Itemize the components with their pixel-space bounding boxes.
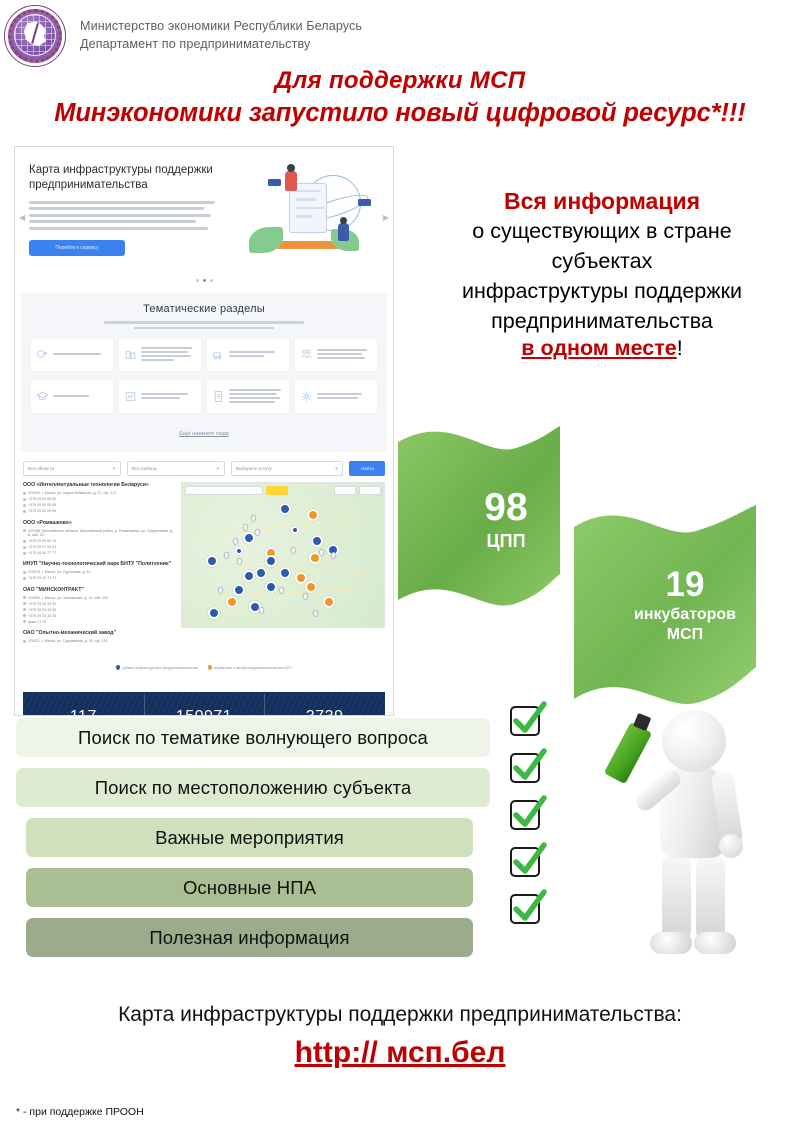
check-icon xyxy=(509,746,549,786)
list-item[interactable]: ООО «Ромашково» 213788, Могилевская обла… xyxy=(23,520,175,556)
organization-phone: +375 29 62 00 00 xyxy=(28,497,56,501)
section-card[interactable] xyxy=(31,380,113,413)
organization-meta: 220021, г. Минск, ул. Грушевская, д. 30,… xyxy=(23,639,175,643)
organization-address: 220081, г. Минск, ул. Заславская, д. 10,… xyxy=(28,596,108,600)
organization-phone: +375 29 33 33 33 xyxy=(28,614,56,618)
phone-icon xyxy=(23,510,26,513)
organization-list[interactable]: ООО «Интеллектуальные технологии Беларус… xyxy=(23,482,175,649)
section-card[interactable] xyxy=(31,338,113,371)
page-title: Для поддержки МСП Минэкономики запустило… xyxy=(0,66,800,130)
check-icon xyxy=(509,699,549,739)
chart-icon xyxy=(124,390,137,403)
header-text: Министерство экономики Республики Белару… xyxy=(80,17,362,53)
mockup-hero: ◀ ▶ Карта инфраструктуры поддержки предп… xyxy=(15,147,393,265)
section-card[interactable] xyxy=(207,338,289,371)
feature-bar-events[interactable]: Важные мероприятия xyxy=(26,818,473,857)
green-marker-icon xyxy=(604,722,652,784)
list-item[interactable]: ОАО "МИНСКОНТРАКТ" 220081, г. Минск, ул.… xyxy=(23,587,175,624)
organization-phone: +375 33 33 33 36 xyxy=(28,608,56,612)
city-select[interactable]: Все районы ▼ xyxy=(127,461,225,476)
organization-phone: +375 44 54 77 77 xyxy=(28,551,56,555)
info-exclaim: ! xyxy=(677,336,683,360)
map-toolbar[interactable] xyxy=(185,486,381,495)
organization-meta: 220036, г. Минск, ул. Карла Либкнехта, д… xyxy=(23,491,175,513)
sections-heading: Тематические разделы xyxy=(31,303,377,315)
organization-meta: 213788, Могилевская область, Могилевский… xyxy=(23,529,175,556)
carousel-dots[interactable] xyxy=(15,265,393,293)
ministry-emblem-icon xyxy=(4,5,66,67)
mockup-hero-cta-label: Перейти к сервису xyxy=(55,245,98,251)
region-select[interactable]: Все области ▼ xyxy=(23,461,121,476)
stat-item: 150971 Оказано услуг за 2022 год xyxy=(144,708,265,716)
sections-more-link[interactable]: Ещё нажмите сюда xyxy=(31,422,377,440)
feature-bar-search-by-location[interactable]: Поиск по местоположению субъекта xyxy=(16,768,490,807)
list-item[interactable]: ИНУП "Научно-технологический парк БНТУ "… xyxy=(23,561,175,580)
checkbox-checked[interactable] xyxy=(510,753,540,783)
building-icon xyxy=(124,348,137,361)
footer-caption: Карта инфраструктуры поддержки предприни… xyxy=(0,1000,800,1030)
phone-icon xyxy=(23,546,26,549)
mockup-hero-illustration xyxy=(219,163,379,259)
info-line-3: инфраструктуры поддержки xyxy=(404,276,800,306)
feature-bar-legal-acts[interactable]: Основные НПА xyxy=(26,868,473,907)
education-icon xyxy=(36,390,49,403)
feature-bars: Поиск по тематике волнующего вопроса Пои… xyxy=(16,718,490,968)
info-emphasis: в одном месте xyxy=(521,336,676,360)
stat-value: 3739 xyxy=(264,708,385,716)
fax-icon xyxy=(23,620,26,623)
phone-icon xyxy=(23,577,26,580)
info-line-4: предпринимательства xyxy=(404,306,800,336)
map-layers-button[interactable] xyxy=(359,486,381,495)
list-item[interactable]: ОАО "Опытно-механический завод" 220021, … xyxy=(23,630,175,643)
location-icon xyxy=(23,492,26,495)
checkbox-checked[interactable] xyxy=(510,706,540,736)
chevron-down-icon: ▼ xyxy=(112,466,116,471)
check-icon xyxy=(509,887,549,927)
mockup-stats-bar: 117 Субъекты инфраструктуры 150971 Оказа… xyxy=(23,692,385,716)
organization-phone: +375 25 65 00 10 xyxy=(28,539,56,543)
map-legend: субъект инфраструктуры предпринимательст… xyxy=(15,662,393,674)
header-line-1: Министерство экономики Республики Белару… xyxy=(80,17,362,35)
legend-marker-blue-icon xyxy=(116,665,120,670)
stat-value: 117 xyxy=(23,708,144,716)
location-icon xyxy=(23,529,26,532)
section-card[interactable] xyxy=(119,380,201,413)
organization-meta: 220081, г. Минск, ул. Заславская, д. 10,… xyxy=(23,596,175,624)
stat-value: 150971 xyxy=(144,708,265,716)
organization-address: 220013, г. Минск, ул. Сурганова, д. 41 xyxy=(28,570,91,574)
page-header: Министерство экономики Республики Белару… xyxy=(0,0,800,70)
phone-icon xyxy=(23,498,26,501)
section-card[interactable] xyxy=(295,338,377,371)
stat-banner-label: 19 инкубаторов МСП xyxy=(570,565,800,645)
legend-label: инкубаторы и центры предпринимательства … xyxy=(214,666,292,670)
checkbox-checked[interactable] xyxy=(510,800,540,830)
organization-address: 213788, Могилевская область, Могилевский… xyxy=(28,529,175,538)
checkbox-checked[interactable] xyxy=(510,894,540,924)
stat-item: 3739 Проведено мероприятий за 2022 год xyxy=(264,708,385,716)
interactive-map[interactable] xyxy=(181,482,385,628)
stat-banner-caption-2: МСП xyxy=(570,625,800,645)
location-icon xyxy=(23,640,26,643)
section-cards-row-1 xyxy=(31,338,377,371)
info-block: Вся информация о существующих в стране с… xyxy=(404,186,800,361)
mockup-hero-paragraph xyxy=(29,201,219,230)
organization-address: 220021, г. Минск, ул. Грушевская, д. 30,… xyxy=(28,639,108,643)
checkbox-list xyxy=(510,706,540,941)
organization-phone: +375 29 62 00 06 xyxy=(28,503,56,507)
legend-marker-orange-icon xyxy=(208,665,212,670)
map-find-button[interactable] xyxy=(266,486,288,495)
legend-label: субъект инфраструктуры предпринимательст… xyxy=(122,666,197,670)
stat-banner-caption-1: инкубаторов xyxy=(570,605,800,625)
sections-more-label: Ещё нажмите сюда xyxy=(179,431,228,437)
website-screenshot-mockup: ◀ ▶ Карта инфраструктуры поддержки предп… xyxy=(14,146,394,716)
phone-icon xyxy=(23,614,26,617)
section-card[interactable] xyxy=(295,380,377,413)
list-item[interactable]: ООО «Интеллектуальные технологии Беларус… xyxy=(23,482,175,513)
mockup-hero-cta-button[interactable]: Перейти к сервису xyxy=(29,240,125,256)
location-icon xyxy=(23,596,26,599)
map-search-input[interactable] xyxy=(185,486,263,495)
check-icon xyxy=(509,793,549,833)
organization-phone: +375 29 92 74 71 xyxy=(28,576,56,580)
region-select-value: Все области xyxy=(28,466,54,471)
chevron-down-icon: ▼ xyxy=(216,466,220,471)
phone-icon xyxy=(23,552,26,555)
section-card[interactable] xyxy=(207,380,289,413)
title-line-2: Минэкономики запустило новый цифровой ре… xyxy=(0,96,800,130)
mockup-results: ООО «Интеллектуальные технологии Беларус… xyxy=(15,482,393,649)
carousel-next-icon[interactable]: ▶ xyxy=(383,213,389,222)
organization-phone: +375 29 62 00 09 xyxy=(28,509,56,513)
location-icon xyxy=(23,571,26,574)
footnote: * - при поддержке ПРООН xyxy=(16,1106,144,1118)
infographic-poster: Министерство экономики Республики Белару… xyxy=(0,0,800,1132)
info-highlight: Вся информация xyxy=(404,186,800,216)
machine-icon xyxy=(212,348,225,361)
person-figure-icon xyxy=(588,706,778,964)
search-button[interactable]: Найти xyxy=(349,461,385,476)
phone-icon xyxy=(23,602,26,605)
city-select-value: Все районы xyxy=(132,466,157,471)
title-line-1: Для поддержки МСП xyxy=(0,66,800,96)
map-traffic-button[interactable] xyxy=(334,486,356,495)
search-button-label: Найти xyxy=(361,466,374,471)
feature-bar-search-by-topic[interactable]: Поиск по тематике волнующего вопроса xyxy=(16,718,490,757)
organization-meta: 220013, г. Минск, ул. Сурганова, д. 41 +… xyxy=(23,570,175,580)
phone-icon xyxy=(23,608,26,611)
feature-bar-useful-info[interactable]: Полезная информация xyxy=(26,918,473,957)
check-icon xyxy=(509,840,549,880)
organization-name: ООО «Ромашково» xyxy=(23,520,175,527)
sections-subtext xyxy=(104,321,304,329)
organization-name: ОАО "МИНСКОНТРАКТ" xyxy=(23,587,175,594)
info-line-2: субъектах xyxy=(404,246,800,276)
coin-icon xyxy=(36,348,49,361)
service-select-value: Выберите услугу xyxy=(236,466,272,471)
people-icon xyxy=(300,348,313,361)
organization-name: ОАО "Опытно-механический завод" xyxy=(23,630,175,637)
organization-phone: +375 33 33 33 30 xyxy=(28,602,56,606)
section-cards-row-2 xyxy=(31,380,377,413)
mockup-filters: Все области ▼ Все районы ▼ Выберите услу… xyxy=(15,452,393,482)
network-icon xyxy=(300,390,313,403)
checkbox-checked[interactable] xyxy=(510,847,540,877)
header-line-2: Департамент по предпринимательству xyxy=(80,35,362,53)
organization-fax: факс 17 22 xyxy=(28,620,46,624)
carousel-prev-icon[interactable]: ◀ xyxy=(19,213,25,222)
organization-name: ООО «Интеллектуальные технологии Беларус… xyxy=(23,482,175,489)
service-select[interactable]: Выберите услугу ▼ xyxy=(231,461,344,476)
stat-item: 117 Субъекты инфраструктуры xyxy=(23,708,144,716)
phone-icon xyxy=(23,504,26,507)
document-icon xyxy=(212,390,225,403)
mockup-hero-heading: Карта инфраструктуры поддержки предприни… xyxy=(29,163,219,193)
section-card[interactable] xyxy=(119,338,201,371)
phone-icon xyxy=(23,540,26,543)
mockup-thematic-sections: Тематические разделы xyxy=(21,293,387,452)
footer-url-link[interactable]: http:// мсп.бел xyxy=(0,1030,800,1076)
organization-address: 220036, г. Минск, ул. Карла Либкнехта, д… xyxy=(28,491,116,495)
checklist-figure xyxy=(498,700,800,968)
chevron-down-icon: ▼ xyxy=(335,466,339,471)
organization-name: ИНУП "Научно-технологический парк БНТУ "… xyxy=(23,561,175,568)
organization-phone: +375 29 97 00 04 xyxy=(28,545,56,549)
stat-banner-value: 19 xyxy=(570,565,800,605)
info-line-1: о существующих в стране xyxy=(404,216,800,246)
footer: Карта инфраструктуры поддержки предприни… xyxy=(0,1000,800,1076)
